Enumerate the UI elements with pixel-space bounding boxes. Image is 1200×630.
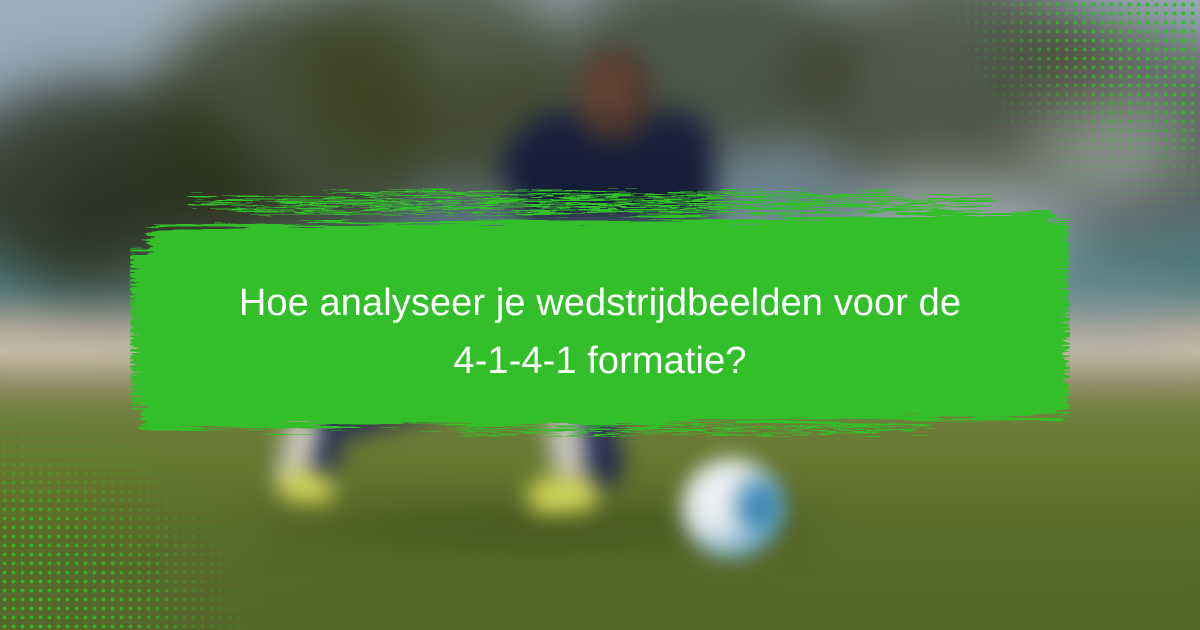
page-title: Hoe analyseer je wedstrijdbeelden voor d…: [130, 274, 1070, 390]
headline-line-1: Hoe analyseer je wedstrijdbeelden voor d…: [158, 274, 1042, 332]
headline-line-2: 4-1-4-1 formatie?: [158, 332, 1042, 390]
headline-banner: Hoe analyseer je wedstrijdbeelden voor d…: [130, 186, 1070, 444]
hero-card: Hoe analyseer je wedstrijdbeelden voor d…: [0, 0, 1200, 630]
